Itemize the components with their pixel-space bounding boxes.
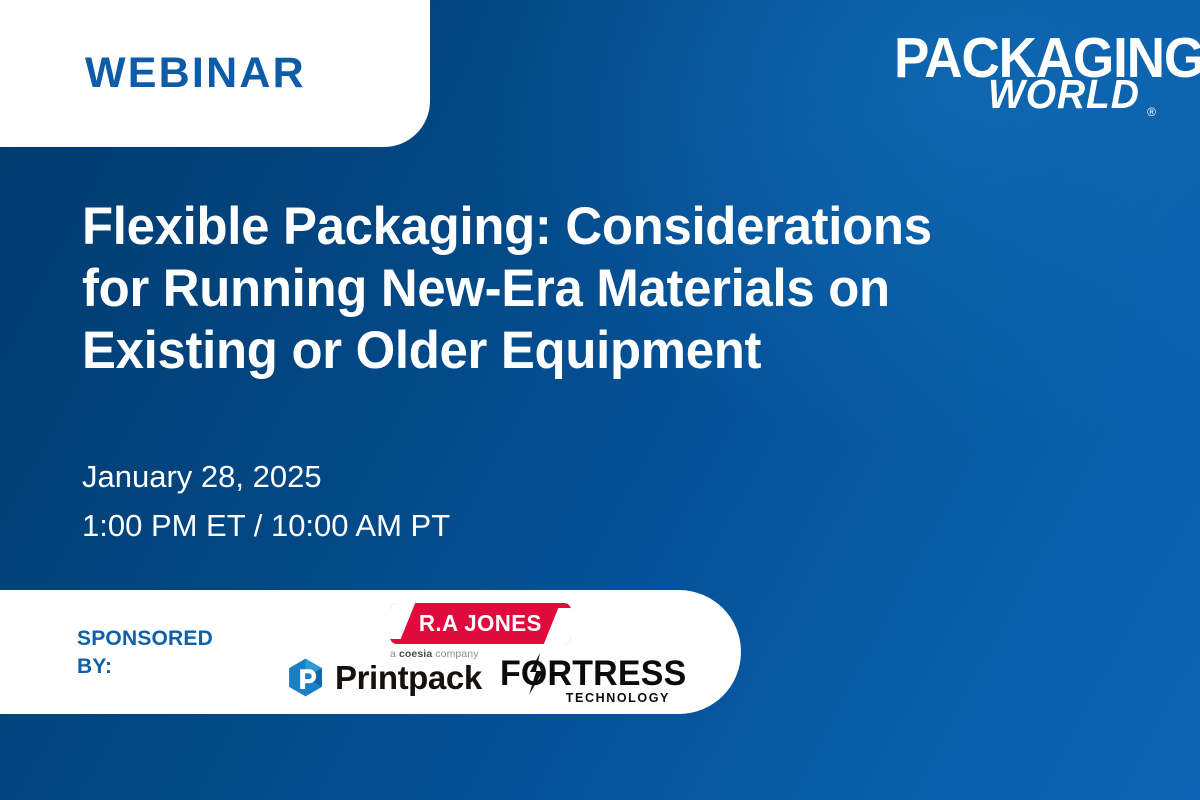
webinar-badge-label: WEBINAR xyxy=(85,52,306,95)
ra-jones-badge: R.A JONES xyxy=(390,603,571,644)
fortress-wordmark-row: FORTRESS xyxy=(500,657,672,690)
registered-trademark-icon: ® xyxy=(1147,106,1156,118)
printpack-wordmark: Printpack xyxy=(335,661,482,694)
webinar-time: 1:00 PM ET / 10:00 AM PT xyxy=(82,502,450,551)
sponsored-by-line-1: SPONSORED xyxy=(77,625,213,653)
sponsor-logo-fortress: FORTRESS TECHNOLOGY xyxy=(500,657,672,705)
sponsor-logo-ra-jones: R.A JONES a coesia company xyxy=(390,603,580,661)
hexagon-p-icon xyxy=(285,657,326,698)
webinar-badge: WEBINAR xyxy=(0,0,430,147)
title-line-2: for Running New-Era Materials on xyxy=(82,258,1042,320)
webinar-schedule: January 28, 2025 1:00 PM ET / 10:00 AM P… xyxy=(82,453,450,551)
logo-world-text: WORLD xyxy=(988,74,1140,115)
lightning-bolt-icon xyxy=(526,653,546,695)
sponsored-by-line-2: BY: xyxy=(77,653,213,681)
webinar-date: January 28, 2025 xyxy=(82,453,450,502)
sponsored-by-label: SPONSORED BY: xyxy=(77,625,213,682)
sponsor-logo-printpack: Printpack xyxy=(285,657,482,698)
packaging-world-logo: PACKAGING WORLD ® xyxy=(894,30,1156,128)
title-line-3: Existing or Older Equipment xyxy=(82,320,1042,382)
page-title: Flexible Packaging: Considerations for R… xyxy=(82,196,1042,382)
title-line-1: Flexible Packaging: Considerations xyxy=(82,196,1042,258)
sponsor-panel: SPONSORED BY: R.A JONES a coesia company… xyxy=(0,590,741,714)
ra-jones-wordmark: R.A JONES xyxy=(419,610,542,637)
webinar-promo-graphic: WEBINAR PACKAGING WORLD ® Flexible Packa… xyxy=(0,0,1200,800)
